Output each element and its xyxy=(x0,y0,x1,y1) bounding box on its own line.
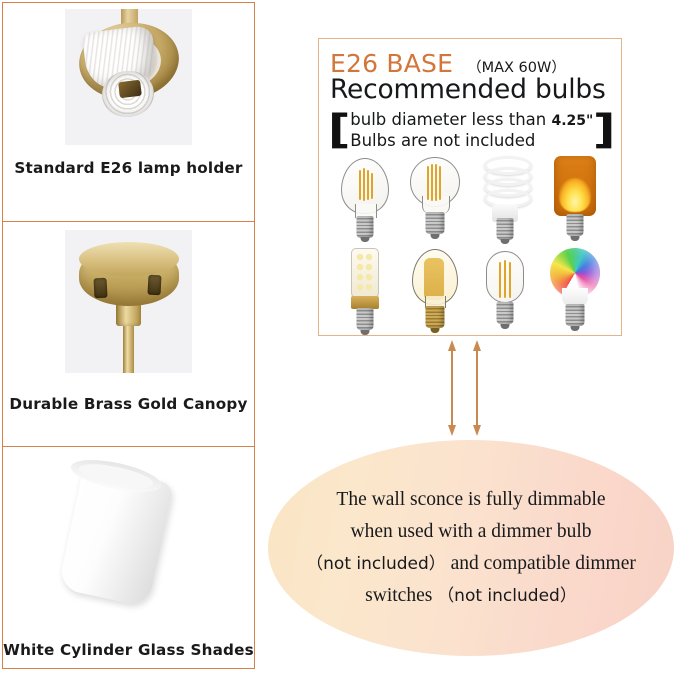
bulb-note-line-1-text: bulb diameter less than xyxy=(350,110,551,129)
dimmable-line-4: switches xyxy=(365,585,437,606)
canopy-rod-shape xyxy=(123,322,134,373)
feature-caption: White Cylinder Glass Shades xyxy=(3,641,254,659)
bulb-note-line-2: Bulbs are not included xyxy=(350,131,593,150)
bulb-diameter-value: 4.25" xyxy=(551,113,593,129)
bracket-open-icon: [ xyxy=(328,110,351,150)
feature-caption: Durable Brass Gold Canopy xyxy=(3,395,254,413)
white-cylinder-glass-shade-photo xyxy=(38,457,220,617)
feature-list: Standard E26 lamp holder Durable Brass G… xyxy=(2,2,255,669)
bulb-note-lines: bulb diameter less than 4.25" Bulbs are … xyxy=(350,110,593,150)
double-arrow-icon xyxy=(470,340,483,436)
rgb-color-changing-bulb-icon xyxy=(542,246,608,334)
bulb-note-bracket-block: [ bulb diameter less than 4.25" Bulbs ar… xyxy=(330,110,610,150)
not-included-switch-label: （not included） xyxy=(437,586,577,606)
feature-item-glass-shade: White Cylinder Glass Shades xyxy=(3,447,254,668)
canopy-disc-top-shape xyxy=(79,242,179,276)
canopy-screw-right-shape xyxy=(147,275,161,296)
bulb-note-line-1: bulb diameter less than 4.25" xyxy=(350,110,593,131)
lamp-contact-shape xyxy=(118,80,142,99)
dimmable-note-text: The wall sconce is fully dimmable when u… xyxy=(306,484,636,612)
dimmable-line-2: when used with a dimmer bulb xyxy=(351,521,592,542)
bracket-close-icon: ] xyxy=(593,110,616,150)
recommended-bulbs-title: Recommended bulbs xyxy=(330,74,610,105)
canopy-screw-left-shape xyxy=(93,278,107,299)
connector-arrows xyxy=(445,340,489,436)
cfl-spiral-bulb-icon xyxy=(472,154,538,242)
dimmable-note-ellipse: The wall sconce is fully dimmable when u… xyxy=(268,440,674,656)
dimmable-line-3: and compatible dimmer xyxy=(446,553,636,574)
brass-gold-canopy-photo xyxy=(65,230,192,373)
flame-effect-bulb-icon xyxy=(542,154,608,242)
feature-caption: Standard E26 lamp holder xyxy=(3,159,254,177)
a19-globe-filament-bulb-icon xyxy=(402,154,468,242)
feature-item-canopy: Durable Brass Gold Canopy xyxy=(3,222,254,447)
t30-tubular-filament-bulb-icon xyxy=(472,246,538,334)
double-arrow-icon xyxy=(445,340,458,436)
st58-amber-edison-bulb-icon xyxy=(402,246,468,334)
bulb-type-grid xyxy=(330,154,610,334)
feature-item-lamp-holder: Standard E26 lamp holder xyxy=(3,3,254,222)
recommended-bulbs-panel: E26 BASE （MAX 60W） Recommended bulbs [ b… xyxy=(318,38,622,336)
dimmable-line-1: The wall sconce is fully dimmable xyxy=(336,489,605,510)
not-included-bulb-label: （not included） xyxy=(306,554,446,574)
st64-edison-filament-bulb-icon xyxy=(332,154,398,242)
e26-lamp-holder-photo xyxy=(65,9,192,145)
led-corn-tube-bulb-icon xyxy=(332,246,398,334)
